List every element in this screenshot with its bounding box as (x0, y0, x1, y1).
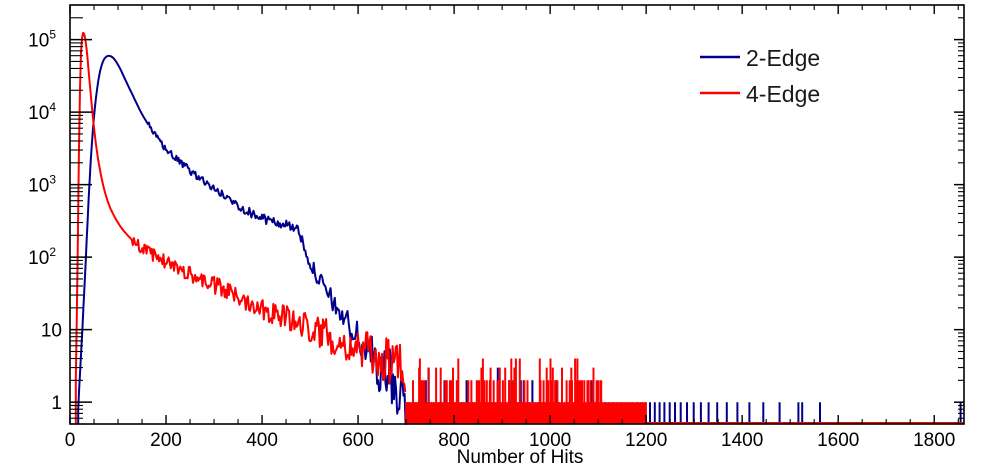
curve-layer (76, 33, 964, 424)
histogram-plot: 0200400600800100012001400160018001101021… (0, 0, 996, 472)
y-tick-label: 1 (51, 393, 62, 414)
legend-entry-2-edge[interactable]: 2-Edge (700, 45, 820, 71)
plot-canvas: 0200400600800100012001400160018001101021… (0, 0, 996, 472)
tick-layer (70, 5, 964, 424)
series-line-2-edge (78, 56, 408, 424)
legend-label: 2-Edge (746, 45, 820, 71)
x-tick-label: 1800 (913, 430, 955, 451)
legend-label: 4-Edge (746, 81, 820, 107)
y-tick-label: 103 (28, 173, 56, 197)
legend-entry-4-edge[interactable]: 4-Edge (700, 81, 820, 107)
x-tick-label: 0 (65, 430, 76, 451)
x-tick-label: 200 (150, 430, 182, 451)
y-tick-label: 104 (28, 100, 56, 124)
tail-spikes (406, 359, 646, 425)
y-tick-label: 10 (41, 321, 62, 342)
series-line-4-edge (76, 33, 406, 424)
y-tick-label: 102 (28, 245, 56, 269)
x-tick-label: 600 (342, 430, 374, 451)
axis-frame (70, 5, 964, 424)
x-axis-title: Number of Hits (457, 447, 584, 468)
series-tail-4-edge (406, 359, 964, 425)
x-tick-label: 1400 (721, 430, 763, 451)
x-tick-label: 1200 (625, 430, 667, 451)
y-tick-label: 105 (28, 28, 56, 52)
x-tick-label: 400 (246, 430, 278, 451)
legend[interactable]: 2-Edge4-Edge (700, 45, 820, 107)
x-tick-label: 1600 (817, 430, 859, 451)
plot-frame (70, 5, 964, 424)
